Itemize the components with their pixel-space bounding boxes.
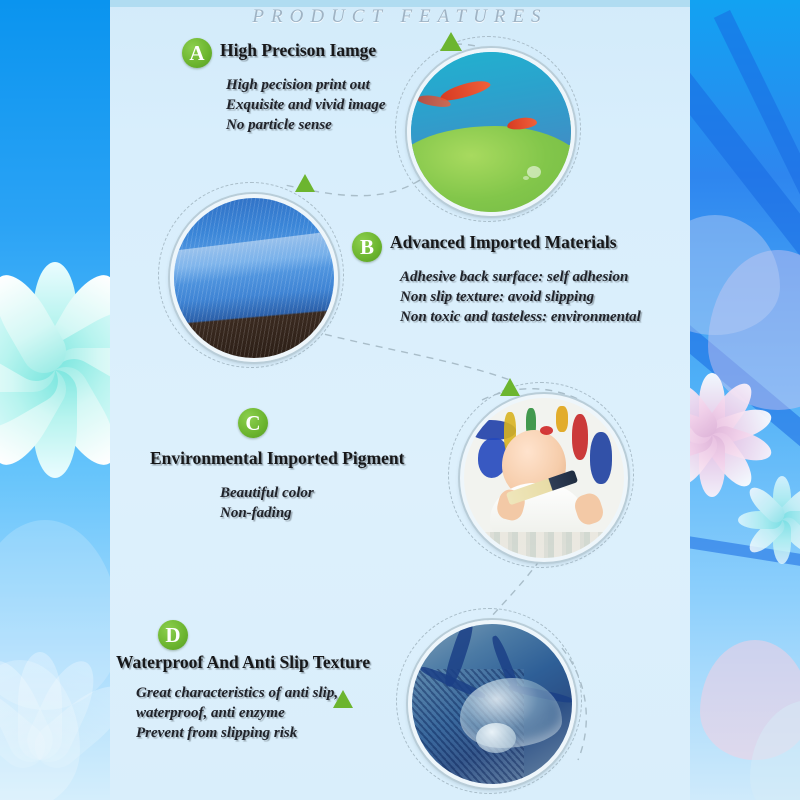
section-a-line-3: No particle sense — [226, 116, 386, 136]
baby-painting-photo[interactable] — [460, 394, 628, 562]
section-heading-a: High Precison Iamge — [220, 40, 376, 61]
section-badge-c: C — [238, 408, 268, 438]
section-heading-d: Waterproof And Anti Slip Texture — [116, 652, 370, 673]
section-badge-b: B — [352, 232, 382, 262]
green-triangle-arrow — [500, 378, 520, 396]
blue-mesh-material-photo[interactable] — [170, 194, 338, 362]
green-triangle-arrow — [295, 174, 315, 192]
section-badge-d: D — [158, 620, 188, 650]
infographic-canvas: PRODUCT FEATURES A High Precison Iamge H… — [0, 0, 800, 800]
left-decorative-border — [0, 0, 110, 800]
waterproof-droplet-photo[interactable] — [408, 620, 576, 788]
section-body-c: Beautiful color Non-fading — [220, 484, 314, 524]
section-badge-a: A — [182, 38, 212, 68]
content-panel: PRODUCT FEATURES A High Precison Iamge H… — [110, 0, 690, 800]
section-d-line-3: Prevent from slipping risk — [136, 724, 338, 744]
green-triangle-arrow — [333, 690, 353, 708]
section-b-line-2: Non slip texture: avoid slipping — [400, 288, 641, 308]
section-c-line-2: Non-fading — [220, 504, 314, 524]
section-d-line-2: waterproof, anti enzyme — [136, 704, 338, 724]
section-c-line-1: Beautiful color — [220, 484, 314, 504]
koi-pond-print-photo[interactable] — [407, 48, 575, 216]
section-b-line-1: Adhesive back surface: self adhesion — [400, 268, 641, 288]
section-body-d: Great characteristics of anti slip, wate… — [136, 684, 338, 743]
section-d-line-1: Great characteristics of anti slip, — [136, 684, 338, 704]
section-a-line-2: Exquisite and vivid image — [226, 96, 386, 116]
page-title: PRODUCT FEATURES — [110, 6, 690, 28]
section-body-b: Adhesive back surface: self adhesion Non… — [400, 268, 641, 327]
section-heading-c: Environmental Imported Pigment — [150, 448, 404, 469]
section-b-line-3: Non toxic and tasteless: environmental — [400, 308, 641, 328]
section-a-line-1: High pecision print out — [226, 76, 386, 96]
section-heading-b: Advanced Imported Materials — [390, 232, 617, 253]
right-decorative-border — [690, 0, 800, 800]
section-body-a: High pecision print out Exquisite and vi… — [226, 76, 386, 135]
green-triangle-arrow — [440, 32, 462, 51]
